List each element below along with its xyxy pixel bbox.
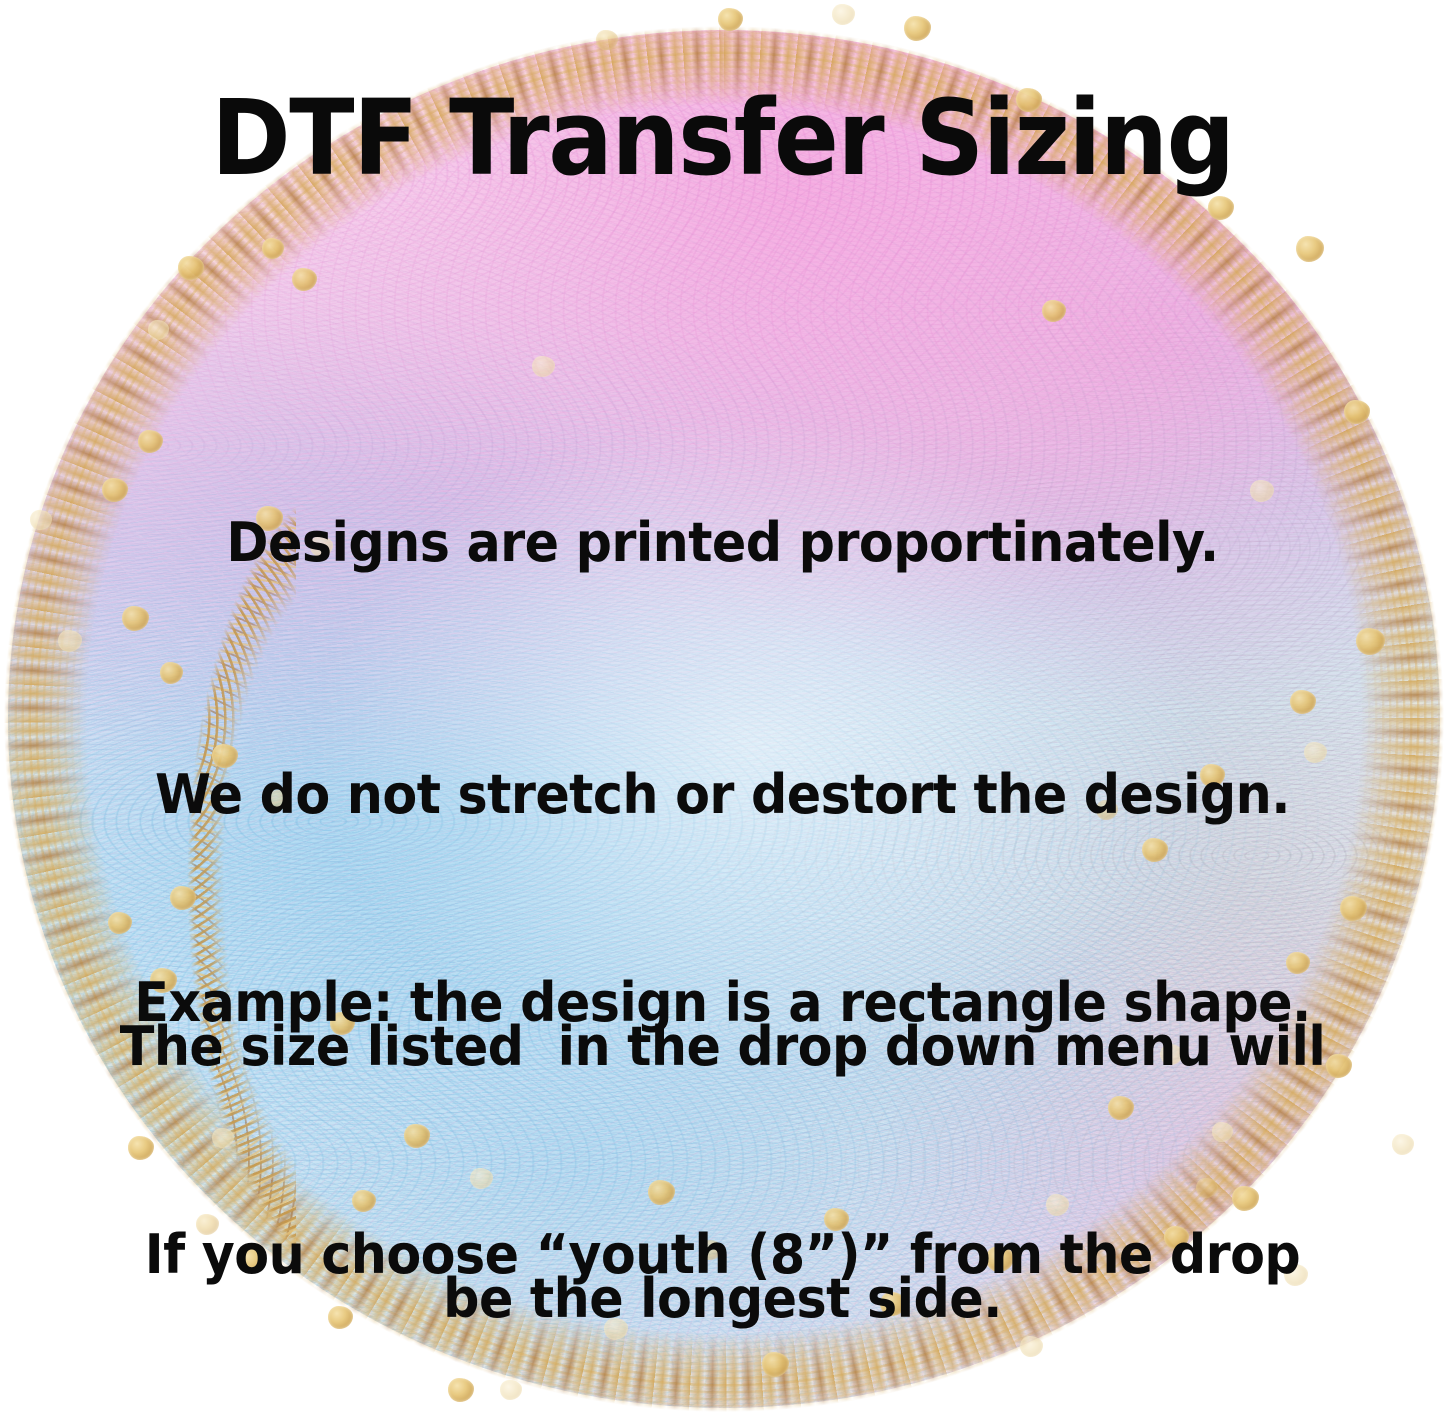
paragraph-example: Example: the design is a rectangle shape… bbox=[81, 793, 1364, 1426]
page-title: DTF Transfer Sizing bbox=[58, 86, 1387, 190]
sizing-infographic: DTF Transfer Sizing Designs are printed … bbox=[0, 0, 1445, 1426]
example-line-2: If you choose “youth (8”)” from the drop bbox=[81, 1213, 1364, 1297]
example-line-1: Example: the design is a rectangle shape… bbox=[81, 961, 1364, 1045]
text-layer: DTF Transfer Sizing Designs are printed … bbox=[0, 0, 1445, 1426]
policy-line-1: Designs are printed proportinately. bbox=[81, 501, 1364, 585]
